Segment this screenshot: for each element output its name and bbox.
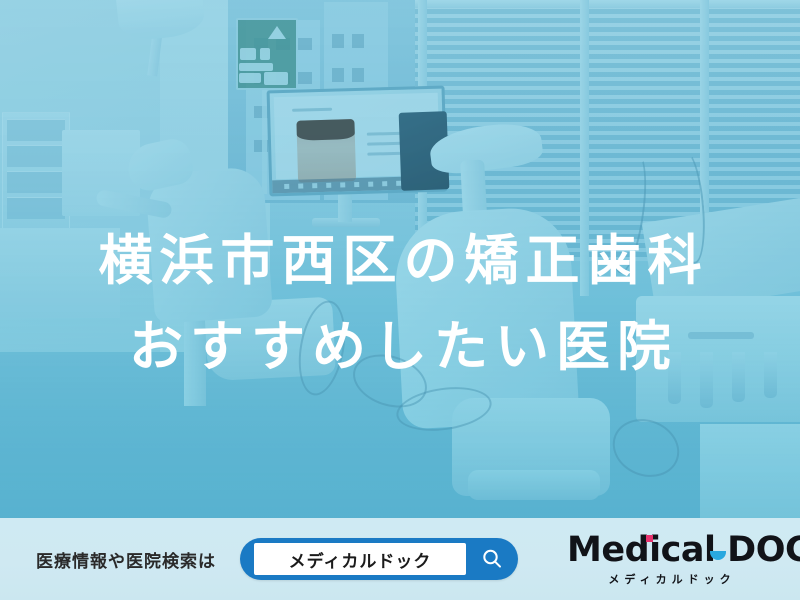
- page-title: 横浜市西区の矯正歯科 おすすめしたい医院: [0, 218, 800, 390]
- search-input-value: メディカルドック: [289, 547, 432, 572]
- brand-logo-i-dot-icon: [646, 535, 653, 542]
- headline-line-2: おすすめしたい医院: [0, 304, 800, 390]
- search-input[interactable]: メディカルドック: [254, 543, 466, 575]
- brand-logo-text: Medical DOC: [567, 530, 800, 570]
- banner-root: P: [0, 0, 800, 600]
- footer-tagline: 医療情報や医院検索は: [36, 547, 216, 572]
- search-icon[interactable]: [480, 547, 504, 571]
- brand-logo-subtitle: メディカルドック: [567, 571, 772, 587]
- search-box[interactable]: メディカルドック: [240, 538, 518, 580]
- headline-line-1: 横浜市西区の矯正歯科: [0, 218, 800, 304]
- brand-logo[interactable]: Medical DOC メディカルドック: [567, 530, 772, 587]
- footer-bar: 医療情報や医院検索は メディカルドック Medical DOC メディカルドック: [0, 518, 800, 600]
- brand-logo-wordmark: Medical DOC: [567, 530, 800, 570]
